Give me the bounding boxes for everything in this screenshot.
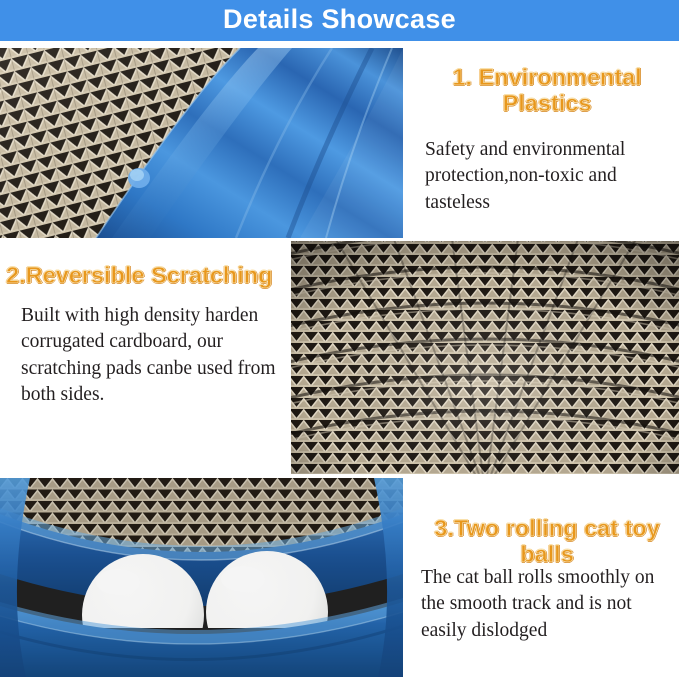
corrugated-cardboard-illustration (291, 241, 679, 474)
details-showcase-banner: Details Showcase (0, 0, 679, 41)
rolling-balls-illustration (0, 478, 403, 677)
page-title: Details Showcase (223, 6, 456, 35)
section-2-body: Built with high density harden corrugate… (21, 303, 289, 408)
photo-balls (0, 478, 403, 677)
section-2-heading: 2.Reversible Scratching (6, 262, 296, 288)
section-3-body: The cat ball rolls smoothly on the smoot… (421, 565, 677, 644)
section-1-body: Safety and environmental protection,non-… (425, 137, 677, 216)
section-1-heading: 1. Environmental Plastics (419, 64, 675, 117)
photo-cardboard (291, 241, 679, 474)
plastic-rim-illustration (0, 48, 403, 238)
photo-plastic-rim (0, 48, 403, 238)
section-3-heading: 3.Two rolling cat toy balls (420, 515, 674, 568)
